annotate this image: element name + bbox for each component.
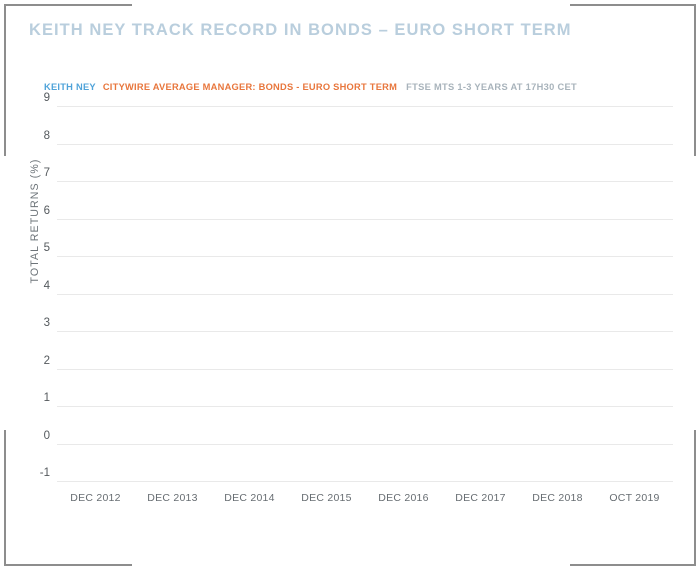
chart-title: KEITH NEY TRACK RECORD IN BONDS – EURO S…: [29, 21, 572, 40]
gridline: [57, 219, 673, 220]
y-axis-title: TOTAL RETURNS (%): [29, 141, 41, 301]
y-tick-label: 6: [44, 205, 50, 217]
gridline: [57, 294, 673, 295]
frame-segment-left-top: [4, 4, 6, 156]
y-tick-label: 5: [44, 242, 50, 254]
chart-legend: KEITH NEY CITYWIRE AVERAGE MANAGER: BOND…: [44, 82, 577, 92]
gridline: [57, 481, 673, 482]
gridline: [57, 106, 673, 107]
y-tick-label: 7: [44, 167, 50, 179]
y-tick-label: 3: [44, 317, 50, 329]
y-tick-label: 4: [44, 280, 50, 292]
frame-segment-right-top: [694, 4, 696, 156]
x-tick-label: DEC 2013: [147, 492, 197, 504]
frame-segment-top-left: [4, 4, 132, 6]
x-tick-label: DEC 2012: [70, 492, 120, 504]
frame-segment-bottom-right: [570, 564, 696, 566]
legend-item-keith-ney: KEITH NEY: [44, 82, 96, 92]
gridline: [57, 144, 673, 145]
gridline: [57, 406, 673, 407]
legend-item-ftse-mts-index: FTSE MTS 1-3 YEARS AT 17H30 CET: [406, 82, 577, 92]
y-tick-label: 8: [44, 130, 50, 142]
chart-page: KEITH NEY TRACK RECORD IN BONDS – EURO S…: [0, 0, 700, 570]
legend-item-citywire-average-manager: CITYWIRE AVERAGE MANAGER: BONDS - EURO S…: [103, 82, 397, 92]
x-tick-label: DEC 2018: [532, 492, 582, 504]
x-tick-label: DEC 2016: [378, 492, 428, 504]
y-tick-label: 2: [44, 355, 50, 367]
gridline: [57, 181, 673, 182]
y-tick-label: 0: [44, 430, 50, 442]
gridline: [57, 331, 673, 332]
frame-segment-left-bottom: [4, 430, 6, 566]
frame-segment-bottom-left: [4, 564, 132, 566]
y-tick-label: 1: [44, 392, 50, 404]
gridline: [57, 444, 673, 445]
gridline: [57, 369, 673, 370]
y-tick-label: -1: [40, 467, 50, 479]
x-tick-label: DEC 2015: [301, 492, 351, 504]
plot-area: 9876543210-1: [57, 106, 673, 481]
x-axis: DEC 2012DEC 2013DEC 2014DEC 2015DEC 2016…: [57, 492, 673, 512]
frame-segment-right-bottom: [694, 430, 696, 566]
x-tick-label: DEC 2014: [224, 492, 274, 504]
y-tick-label: 9: [44, 92, 50, 104]
gridline: [57, 256, 673, 257]
x-tick-label: DEC 2017: [455, 492, 505, 504]
frame-segment-top-right: [570, 4, 696, 6]
x-tick-label: OCT 2019: [609, 492, 659, 504]
